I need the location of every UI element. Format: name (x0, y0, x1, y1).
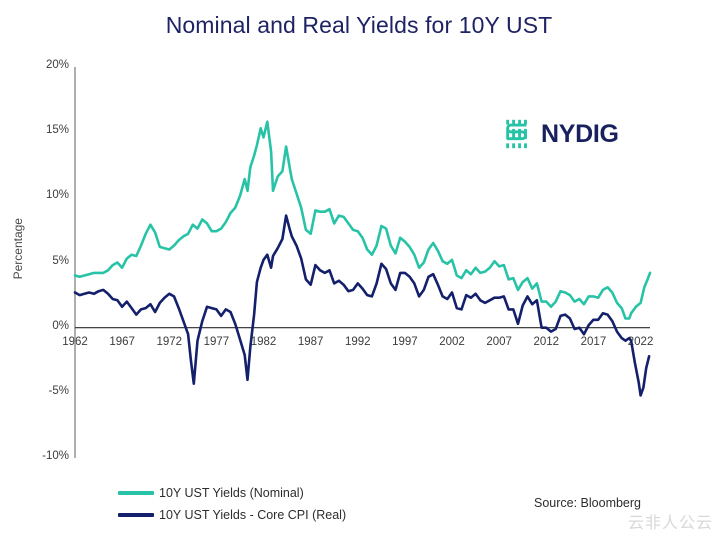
legend-item-real: 10Y UST Yields - Core CPI (Real) (118, 504, 346, 526)
watermark: 云非人公云 (628, 509, 713, 533)
chart-legend: 10Y UST Yields (Nominal) 10Y UST Yields … (118, 482, 346, 526)
plot-area (0, 0, 718, 539)
series-layer (75, 122, 650, 396)
source-note: Source: Bloomberg (534, 496, 641, 510)
legend-item-nominal: 10Y UST Yields (Nominal) (118, 482, 346, 504)
legend-swatch-nominal (118, 491, 154, 495)
nydig-mark-icon (500, 117, 534, 151)
nydig-logo: NYDIG (500, 117, 619, 151)
nydig-wordmark: NYDIG (541, 120, 619, 149)
legend-swatch-real (118, 513, 154, 517)
legend-label-real: 10Y UST Yields - Core CPI (Real) (159, 508, 346, 522)
chart-container: Nominal and Real Yields for 10Y UST Perc… (0, 0, 718, 539)
series-line-real (75, 216, 649, 396)
legend-label-nominal: 10Y UST Yields (Nominal) (159, 486, 304, 500)
